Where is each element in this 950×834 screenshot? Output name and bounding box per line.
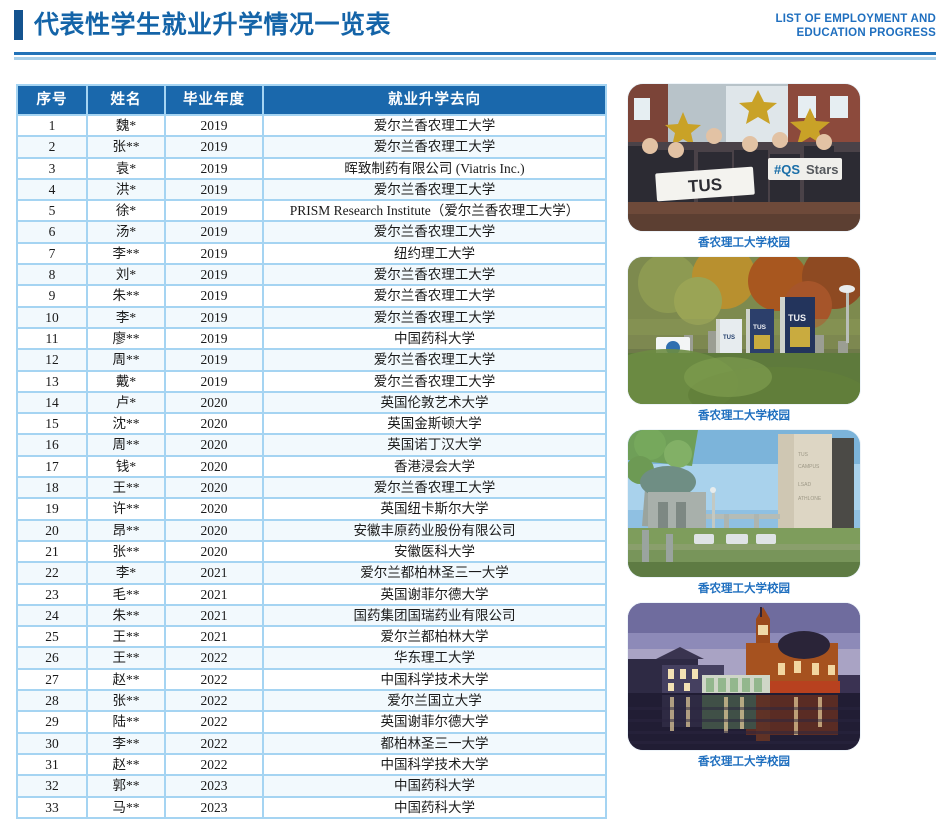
cell-index: 27 (18, 670, 86, 689)
cell-destination: 安徽医科大学 (264, 542, 605, 561)
cell-year: 2021 (166, 627, 262, 646)
table-row: 15沈**2020英国金斯顿大学 (18, 414, 605, 433)
cell-destination: 爱尔兰香农理工大学 (264, 265, 605, 284)
cell-index: 17 (18, 457, 86, 476)
table-row: 4洪*2019爱尔兰香农理工大学 (18, 180, 605, 199)
svg-text:LSAD: LSAD (798, 482, 811, 488)
roster-table: 序号 姓名 毕业年度 就业升学去向 1魏*2019爱尔兰香农理工大学2张**20… (16, 84, 607, 819)
cell-year: 2019 (166, 159, 262, 178)
cell-name: 戴* (88, 372, 164, 391)
cell-name: 张** (88, 137, 164, 156)
column-header-year: 毕业年度 (166, 86, 262, 114)
cell-year: 2021 (166, 585, 262, 604)
table-row: 26王**2022华东理工大学 (18, 648, 605, 667)
table-row: 29陆**2022英国谢菲尔德大学 (18, 712, 605, 731)
cell-name: 朱** (88, 286, 164, 305)
cell-index: 21 (18, 542, 86, 561)
cell-year: 2021 (166, 563, 262, 582)
cell-year: 2019 (166, 244, 262, 263)
svg-text:TUS: TUS (753, 324, 767, 331)
cell-destination: 爱尔兰香农理工大学 (264, 308, 605, 327)
cell-year: 2019 (166, 180, 262, 199)
cell-year: 2020 (166, 457, 262, 476)
table-row: 20昂**2020安徽丰原药业股份有限公司 (18, 521, 605, 540)
table-row: 6汤*2019爱尔兰香农理工大学 (18, 222, 605, 241)
table-row: 2张**2019爱尔兰香农理工大学 (18, 137, 605, 156)
cell-year: 2019 (166, 286, 262, 305)
cell-index: 8 (18, 265, 86, 284)
cell-year: 2019 (166, 137, 262, 156)
svg-text:ATHLONE: ATHLONE (798, 496, 822, 502)
cell-destination: 中国科学技术大学 (264, 670, 605, 689)
campus-photo-qs-stars: TUS #QS Stars (628, 84, 860, 231)
table-row: 16周**2020英国诺丁汉大学 (18, 435, 605, 454)
cell-index: 22 (18, 563, 86, 582)
cell-name: 魏* (88, 116, 164, 135)
cell-destination: 爱尔兰香农理工大学 (264, 116, 605, 135)
cell-name: 王** (88, 478, 164, 497)
svg-text:TUS: TUS (687, 175, 722, 196)
table-row: 10李*2019爱尔兰香农理工大学 (18, 308, 605, 327)
page-header: 代表性学生就业升学情况一览表 LIST OF EMPLOYMENT AND ED… (0, 0, 950, 68)
table-row: 23毛**2021英国谢菲尔德大学 (18, 585, 605, 604)
cell-destination: 爱尔兰香农理工大学 (264, 222, 605, 241)
title-left-group: 代表性学生就业升学情况一览表 (14, 10, 391, 40)
table-row: 25王**2021爱尔兰都柏林大学 (18, 627, 605, 646)
cell-destination: 英国纽卡斯尔大学 (264, 499, 605, 518)
photo-caption: 香农理工大学校园 (628, 408, 860, 424)
cell-name: 刘* (88, 265, 164, 284)
cell-year: 2022 (166, 755, 262, 774)
cell-name: 朱** (88, 606, 164, 625)
table-row: 22李*2021爱尔兰都柏林圣三一大学 (18, 563, 605, 582)
cell-destination: PRISM Research Institute（爱尔兰香农理工大学） (264, 201, 605, 220)
cell-year: 2020 (166, 393, 262, 412)
cell-year: 2019 (166, 308, 262, 327)
cell-year: 2019 (166, 372, 262, 391)
cell-destination: 安徽丰原药业股份有限公司 (264, 521, 605, 540)
cell-index: 20 (18, 521, 86, 540)
cell-destination: 爱尔兰香农理工大学 (264, 478, 605, 497)
cell-index: 26 (18, 648, 86, 667)
cell-index: 32 (18, 776, 86, 795)
cell-name: 周** (88, 350, 164, 369)
table-row: 28张**2022爱尔兰国立大学 (18, 691, 605, 710)
photo-sidebar: TUS #QS Stars 香农理工大学校园 (607, 84, 936, 776)
cell-year: 2019 (166, 329, 262, 348)
cell-year: 2020 (166, 414, 262, 433)
cell-name: 廖** (88, 329, 164, 348)
cell-name: 赵** (88, 755, 164, 774)
table-row: 1魏*2019爱尔兰香农理工大学 (18, 116, 605, 135)
cell-name: 李* (88, 308, 164, 327)
cell-name: 陆** (88, 712, 164, 731)
header-divider-thin (14, 57, 936, 60)
campus-photo-riverside-night (628, 603, 860, 750)
cell-name: 王** (88, 648, 164, 667)
page-content: 序号 姓名 毕业年度 就业升学去向 1魏*2019爱尔兰香农理工大学2张**20… (0, 68, 950, 819)
cell-name: 王** (88, 627, 164, 646)
cell-name: 袁* (88, 159, 164, 178)
cell-index: 14 (18, 393, 86, 412)
svg-text:Stars: Stars (806, 162, 839, 177)
cell-year: 2020 (166, 499, 262, 518)
cell-name: 郭** (88, 776, 164, 795)
cell-name: 李** (88, 734, 164, 753)
cell-year: 2019 (166, 350, 262, 369)
cell-destination: 香港浸会大学 (264, 457, 605, 476)
cell-index: 31 (18, 755, 86, 774)
table-row: 27赵**2022中国科学技术大学 (18, 670, 605, 689)
cell-destination: 爱尔兰香农理工大学 (264, 137, 605, 156)
cell-index: 7 (18, 244, 86, 263)
cell-destination: 中国药科大学 (264, 776, 605, 795)
cell-index: 10 (18, 308, 86, 327)
cell-destination: 纽约理工大学 (264, 244, 605, 263)
photo-card: TUS #QS Stars 香农理工大学校园 (628, 84, 936, 251)
cell-destination: 晖致制药有限公司 (Viatris Inc.) (264, 159, 605, 178)
cell-index: 23 (18, 585, 86, 604)
cell-name: 李* (88, 563, 164, 582)
photo-graphic: TUSCAMPUS LSADATHLONE (628, 430, 860, 577)
cell-destination: 爱尔兰香农理工大学 (264, 372, 605, 391)
cell-year: 2020 (166, 478, 262, 497)
cell-year: 2022 (166, 691, 262, 710)
cell-year: 2019 (166, 265, 262, 284)
table-row: 14卢*2020英国伦敦艺术大学 (18, 393, 605, 412)
cell-name: 许** (88, 499, 164, 518)
cell-name: 毛** (88, 585, 164, 604)
campus-photo-entrance-monument: TUSCAMPUS LSADATHLONE (628, 430, 860, 577)
svg-text:TUS: TUS (788, 313, 806, 323)
roster-table-head: 序号 姓名 毕业年度 就业升学去向 (18, 86, 605, 114)
table-row: 8刘*2019爱尔兰香农理工大学 (18, 265, 605, 284)
cell-year: 2022 (166, 648, 262, 667)
english-subtitle-line1: LIST OF EMPLOYMENT AND (776, 12, 937, 26)
campus-photo-autumn-banners: TUS TUS TUS (628, 257, 860, 404)
table-row: 33马**2023中国药科大学 (18, 798, 605, 817)
cell-name: 李** (88, 244, 164, 263)
cell-destination: 华东理工大学 (264, 648, 605, 667)
cell-name: 卢* (88, 393, 164, 412)
cell-name: 张** (88, 542, 164, 561)
cell-destination: 英国谢菲尔德大学 (264, 712, 605, 731)
cell-year: 2023 (166, 798, 262, 817)
cell-name: 周** (88, 435, 164, 454)
svg-text:CAMPUS: CAMPUS (798, 464, 820, 470)
cell-index: 29 (18, 712, 86, 731)
cell-index: 1 (18, 116, 86, 135)
table-row: 30李**2022都柏林圣三一大学 (18, 734, 605, 753)
table-row: 7李**2019纽约理工大学 (18, 244, 605, 263)
cell-destination: 英国诺丁汉大学 (264, 435, 605, 454)
cell-index: 28 (18, 691, 86, 710)
cell-index: 6 (18, 222, 86, 241)
table-row: 11廖**2019中国药科大学 (18, 329, 605, 348)
table-row: 24朱**2021国药集团国瑞药业有限公司 (18, 606, 605, 625)
svg-text:#QS: #QS (774, 162, 800, 177)
cell-name: 昂** (88, 521, 164, 540)
cell-index: 9 (18, 286, 86, 305)
cell-name: 赵** (88, 670, 164, 689)
cell-destination: 英国金斯顿大学 (264, 414, 605, 433)
cell-index: 24 (18, 606, 86, 625)
table-row: 13戴*2019爱尔兰香农理工大学 (18, 372, 605, 391)
photo-graphic: TUS TUS TUS (628, 257, 860, 404)
svg-text:TUS: TUS (723, 335, 735, 341)
cell-destination: 爱尔兰香农理工大学 (264, 350, 605, 369)
photo-card: TUS TUS TUS (628, 257, 936, 424)
cell-index: 16 (18, 435, 86, 454)
cell-index: 11 (18, 329, 86, 348)
roster-table-body: 1魏*2019爱尔兰香农理工大学2张**2019爱尔兰香农理工大学3袁*2019… (18, 116, 605, 817)
cell-index: 5 (18, 201, 86, 220)
cell-destination: 英国伦敦艺术大学 (264, 393, 605, 412)
table-row: 12周**2019爱尔兰香农理工大学 (18, 350, 605, 369)
column-header-index: 序号 (18, 86, 86, 114)
cell-name: 马** (88, 798, 164, 817)
cell-year: 2022 (166, 670, 262, 689)
cell-name: 钱* (88, 457, 164, 476)
title-row: 代表性学生就业升学情况一览表 LIST OF EMPLOYMENT AND ED… (0, 0, 950, 40)
cell-year: 2023 (166, 776, 262, 795)
cell-destination: 爱尔兰香农理工大学 (264, 286, 605, 305)
page-title: 代表性学生就业升学情况一览表 (34, 10, 391, 40)
cell-index: 18 (18, 478, 86, 497)
cell-name: 张** (88, 691, 164, 710)
photo-card: TUSCAMPUS LSADATHLONE (628, 430, 936, 597)
cell-name: 汤* (88, 222, 164, 241)
title-accent-bar (14, 10, 23, 40)
cell-name: 徐* (88, 201, 164, 220)
cell-year: 2020 (166, 435, 262, 454)
cell-destination: 国药集团国瑞药业有限公司 (264, 606, 605, 625)
header-divider (14, 52, 936, 60)
cell-index: 13 (18, 372, 86, 391)
photo-card: 香农理工大学校园 (628, 603, 936, 770)
cell-year: 2021 (166, 606, 262, 625)
cell-index: 3 (18, 159, 86, 178)
table-row: 31赵**2022中国科学技术大学 (18, 755, 605, 774)
table-row: 19许**2020英国纽卡斯尔大学 (18, 499, 605, 518)
cell-destination: 英国谢菲尔德大学 (264, 585, 605, 604)
cell-index: 15 (18, 414, 86, 433)
cell-year: 2019 (166, 116, 262, 135)
cell-name: 沈** (88, 414, 164, 433)
table-row: 17钱*2020香港浸会大学 (18, 457, 605, 476)
cell-year: 2022 (166, 734, 262, 753)
cell-destination: 都柏林圣三一大学 (264, 734, 605, 753)
cell-index: 19 (18, 499, 86, 518)
cell-destination: 中国药科大学 (264, 329, 605, 348)
table-header-row: 序号 姓名 毕业年度 就业升学去向 (18, 86, 605, 114)
table-row: 32郭**2023中国药科大学 (18, 776, 605, 795)
cell-index: 25 (18, 627, 86, 646)
photo-graphic: TUS #QS Stars (628, 84, 860, 231)
cell-year: 2019 (166, 222, 262, 241)
cell-year: 2020 (166, 542, 262, 561)
svg-text:TUS: TUS (798, 452, 809, 458)
roster-table-wrap: 序号 姓名 毕业年度 就业升学去向 1魏*2019爱尔兰香农理工大学2张**20… (16, 84, 607, 819)
cell-year: 2019 (166, 201, 262, 220)
cell-index: 12 (18, 350, 86, 369)
photo-graphic (628, 603, 860, 750)
column-header-destination: 就业升学去向 (264, 86, 605, 114)
english-subtitle: LIST OF EMPLOYMENT AND EDUCATION PROGRES… (776, 10, 937, 40)
cell-destination: 中国科学技术大学 (264, 755, 605, 774)
table-row: 21张**2020安徽医科大学 (18, 542, 605, 561)
cell-destination: 爱尔兰都柏林圣三一大学 (264, 563, 605, 582)
cell-name: 洪* (88, 180, 164, 199)
cell-index: 33 (18, 798, 86, 817)
cell-index: 2 (18, 137, 86, 156)
table-row: 18王**2020爱尔兰香农理工大学 (18, 478, 605, 497)
column-header-name: 姓名 (88, 86, 164, 114)
cell-destination: 爱尔兰香农理工大学 (264, 180, 605, 199)
cell-index: 4 (18, 180, 86, 199)
table-row: 3袁*2019晖致制药有限公司 (Viatris Inc.) (18, 159, 605, 178)
photo-caption: 香农理工大学校园 (628, 754, 860, 770)
table-row: 5徐*2019PRISM Research Institute（爱尔兰香农理工大… (18, 201, 605, 220)
english-subtitle-line2: EDUCATION PROGRESS (776, 26, 937, 40)
photo-caption: 香农理工大学校园 (628, 581, 860, 597)
cell-index: 30 (18, 734, 86, 753)
cell-year: 2022 (166, 712, 262, 731)
cell-destination: 爱尔兰都柏林大学 (264, 627, 605, 646)
cell-destination: 中国药科大学 (264, 798, 605, 817)
cell-year: 2020 (166, 521, 262, 540)
cell-destination: 爱尔兰国立大学 (264, 691, 605, 710)
table-row: 9朱**2019爱尔兰香农理工大学 (18, 286, 605, 305)
photo-caption: 香农理工大学校园 (628, 235, 860, 251)
